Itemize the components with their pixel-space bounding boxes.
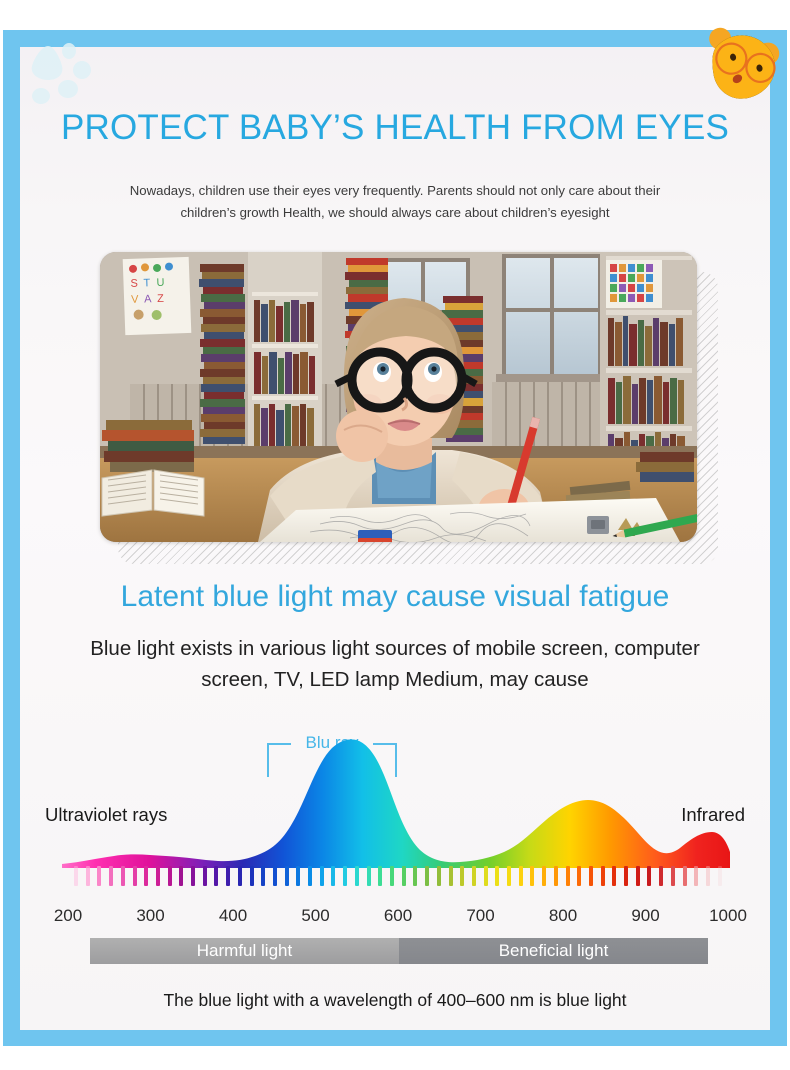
- spectrum-tick-bar: [495, 866, 499, 886]
- infographic-page: PROTECT BABY’S HEALTH FROM EYES Nowadays…: [0, 0, 790, 1070]
- spectrum-tick-bar: [308, 866, 312, 886]
- axis-tick-label: 1000: [709, 906, 747, 926]
- spectrum-tick-bar: [109, 866, 113, 886]
- axis-tick-label: 200: [54, 906, 82, 926]
- spectrum-tick-bar: [179, 866, 183, 886]
- spectrum-tick-bar: [390, 866, 394, 886]
- spectrum-tick-bar: [343, 866, 347, 886]
- axis-tick-label: 500: [301, 906, 329, 926]
- spectrum-tick-bar: [449, 866, 453, 886]
- spectrum-tick-bar: [460, 866, 464, 886]
- spectrum-tick-bar: [636, 866, 640, 886]
- spectrum-tick-bar: [74, 866, 78, 886]
- axis-tick-label: 800: [549, 906, 577, 926]
- spectrum-tick-bar: [659, 866, 663, 886]
- spectrum-tick-bar: [86, 866, 90, 886]
- photo-block: S T U V A Z: [100, 252, 700, 544]
- spectrum-tick-bar: [402, 866, 406, 886]
- spectrum-tick-bar: [121, 866, 125, 886]
- spectrum-tick-bar: [367, 866, 371, 886]
- section-body: Blue light exists in various light sourc…: [35, 633, 755, 695]
- intro-line-1: Nowadays, children use their eyes very f…: [55, 180, 735, 202]
- spectrum-tick-bar: [203, 866, 207, 886]
- spectrum-tick-bar: [647, 866, 651, 886]
- spectrum-tick-bar: [238, 866, 242, 886]
- wavelength-axis: 2003004005006007008009001000: [68, 906, 728, 928]
- light-bands: Harmful light Beneficial light: [90, 938, 708, 964]
- spectrum-tick-bars: [74, 866, 722, 890]
- spectrum-tick-bar: [601, 866, 605, 886]
- intro-paragraph: Nowadays, children use their eyes very f…: [55, 180, 735, 224]
- page-title: PROTECT BABY’S HEALTH FROM EYES: [20, 108, 770, 148]
- svg-text:T: T: [143, 277, 150, 289]
- spectrum-tick-bar: [425, 866, 429, 886]
- spectrum-tick-bar: [542, 866, 546, 886]
- spectrum-tick-bar: [168, 866, 172, 886]
- spectrum-tick-bar: [413, 866, 417, 886]
- axis-tick-label: 900: [631, 906, 659, 926]
- spectrum-tick-bar: [706, 866, 710, 886]
- axis-tick-label: 400: [219, 906, 247, 926]
- spectrum-tick-bar: [273, 866, 277, 886]
- spectrum-tick-bar: [566, 866, 570, 886]
- spectrum-tick-bar: [437, 866, 441, 886]
- section-body-line-1: Blue light exists in various light sourc…: [35, 633, 755, 664]
- spectrum-tick-bar: [624, 866, 628, 886]
- bear-with-glasses-icon: [700, 22, 786, 106]
- section-body-line-2: screen, TV, LED lamp Medium, may cause: [35, 664, 755, 695]
- svg-text:U: U: [156, 277, 164, 289]
- spectrum-tick-bar: [191, 866, 195, 886]
- spectrum-tick-bar: [355, 866, 359, 886]
- svg-text:V: V: [131, 294, 139, 306]
- spectrum-tick-bar: [144, 866, 148, 886]
- spectrum-tick-bar: [472, 866, 476, 886]
- spectrum-tick-bar: [484, 866, 488, 886]
- spectrum-tick-bar: [331, 866, 335, 886]
- spectrum-tick-bar: [378, 866, 382, 886]
- spectrum-tick-bar: [530, 866, 534, 886]
- axis-tick-label: 700: [466, 906, 494, 926]
- spectrum-tick-bar: [718, 866, 722, 886]
- spectrum-tick-bar: [156, 866, 160, 886]
- spectrum-tick-bar: [612, 866, 616, 886]
- band-harmful-light: Harmful light: [90, 938, 399, 964]
- spectrum-tick-bar: [133, 866, 137, 886]
- svg-text:A: A: [144, 293, 152, 305]
- band-beneficial-light: Beneficial light: [399, 938, 708, 964]
- svg-text:Z: Z: [157, 293, 164, 305]
- axis-tick-label: 600: [384, 906, 412, 926]
- intro-line-2: children’s growth Health, we should alwa…: [55, 202, 735, 224]
- spectrum-tick-bar: [285, 866, 289, 886]
- spectrum-tick-bar: [320, 866, 324, 886]
- spectrum-tick-bar: [97, 866, 101, 886]
- spectrum-tick-bar: [683, 866, 687, 886]
- child-study-photo: S T U V A Z: [100, 252, 697, 542]
- spectrum-tick-bar: [226, 866, 230, 886]
- spectrum-tick-bar: [519, 866, 523, 886]
- spectrum-tick-bar: [577, 866, 581, 886]
- spectrum-chart: Blu ray Ultraviolet rays Infrared: [20, 716, 770, 1016]
- spectrum-tick-bar: [214, 866, 218, 886]
- section-heading: Latent blue light may cause visual fatig…: [20, 580, 770, 614]
- spectrum-tick-bar: [261, 866, 265, 886]
- axis-tick-label: 300: [136, 906, 164, 926]
- spectrum-tick-bar: [250, 866, 254, 886]
- spectrum-tick-bar: [507, 866, 511, 886]
- spectrum-curve: [62, 734, 730, 868]
- spectrum-tick-bar: [554, 866, 558, 886]
- spectrum-tick-bar: [671, 866, 675, 886]
- footnote-text: The blue light with a wavelength of 400–…: [20, 990, 770, 1011]
- spectrum-tick-bar: [296, 866, 300, 886]
- spectrum-tick-bar: [589, 866, 593, 886]
- svg-text:S: S: [130, 278, 138, 290]
- paw-print-icon: [14, 40, 94, 114]
- spectrum-tick-bar: [694, 866, 698, 886]
